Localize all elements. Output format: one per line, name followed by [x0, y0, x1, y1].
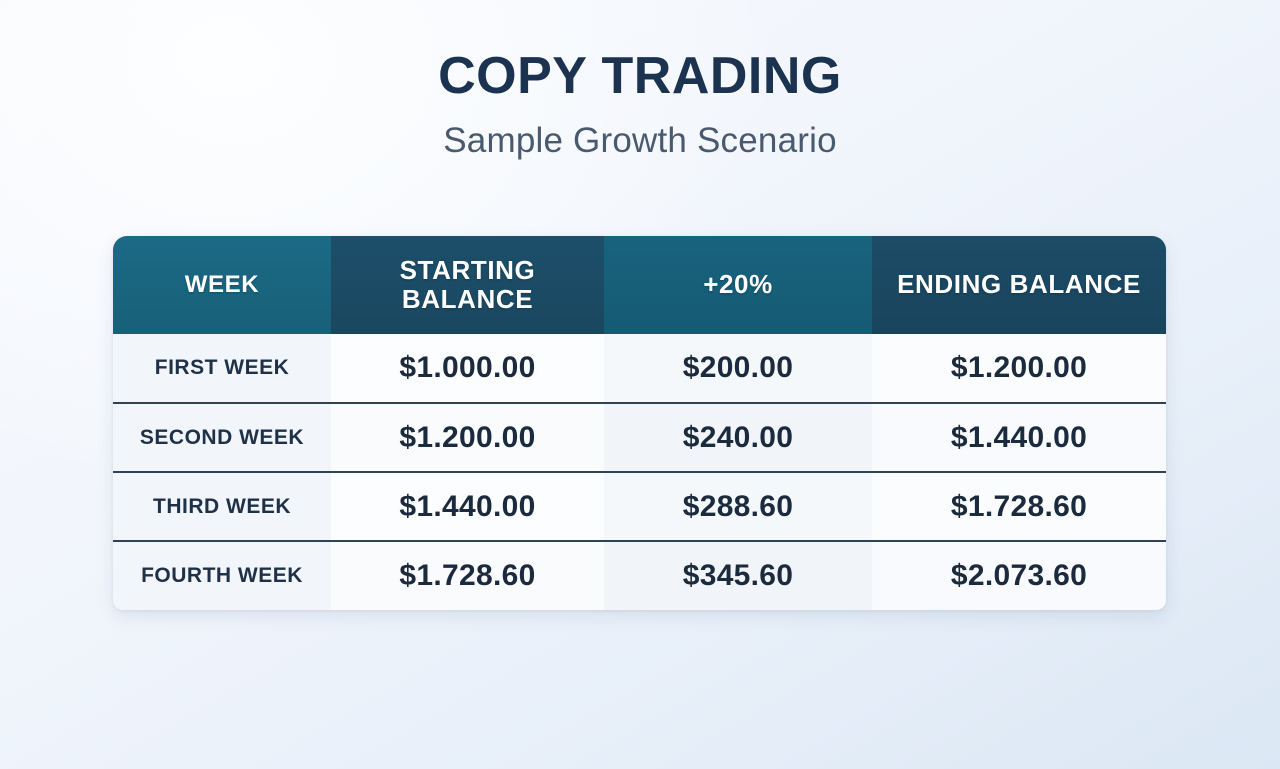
column-header-week: WEEK [113, 236, 331, 334]
cell-gain: $200.00 [604, 334, 872, 403]
page-root: COPY TRADING Sample Growth Scenario WEEK… [0, 0, 1280, 769]
cell-ending-balance: $1.728.60 [872, 472, 1166, 541]
growth-table-container: WEEK STARTING BALANCE +20% ENDING BALANC… [113, 236, 1166, 610]
page-title: COPY TRADING [0, 48, 1280, 104]
table-row: THIRD WEEK $1.440.00 $288.60 $1.728.60 [113, 472, 1166, 541]
table-body: FIRST WEEK $1.000.00 $200.00 $1.200.00 S… [113, 334, 1166, 610]
cell-week: THIRD WEEK [113, 472, 331, 541]
table-row: FIRST WEEK $1.000.00 $200.00 $1.200.00 [113, 334, 1166, 403]
growth-table: WEEK STARTING BALANCE +20% ENDING BALANC… [113, 236, 1166, 610]
cell-week: FIRST WEEK [113, 334, 331, 403]
cell-gain: $288.60 [604, 472, 872, 541]
table-row: SECOND WEEK $1.200.00 $240.00 $1.440.00 [113, 403, 1166, 472]
cell-week: SECOND WEEK [113, 403, 331, 472]
cell-ending-balance: $2.073.60 [872, 541, 1166, 610]
cell-starting-balance: $1.200.00 [331, 403, 604, 472]
table-header: WEEK STARTING BALANCE +20% ENDING BALANC… [113, 236, 1166, 334]
cell-ending-balance: $1.440.00 [872, 403, 1166, 472]
column-header-percent-gain: +20% [604, 236, 872, 334]
table-row: FOURTH WEEK $1.728.60 $345.60 $2.073.60 [113, 541, 1166, 610]
cell-week: FOURTH WEEK [113, 541, 331, 610]
cell-starting-balance: $1.728.60 [331, 541, 604, 610]
cell-ending-balance: $1.200.00 [872, 334, 1166, 403]
cell-gain: $345.60 [604, 541, 872, 610]
page-subtitle: Sample Growth Scenario [0, 122, 1280, 161]
column-header-ending-balance: ENDING BALANCE [872, 236, 1166, 334]
column-header-starting-balance: STARTING BALANCE [331, 236, 604, 334]
table-header-row: WEEK STARTING BALANCE +20% ENDING BALANC… [113, 236, 1166, 334]
cell-starting-balance: $1.000.00 [331, 334, 604, 403]
heading-block: COPY TRADING Sample Growth Scenario [0, 48, 1280, 161]
cell-starting-balance: $1.440.00 [331, 472, 604, 541]
cell-gain: $240.00 [604, 403, 872, 472]
